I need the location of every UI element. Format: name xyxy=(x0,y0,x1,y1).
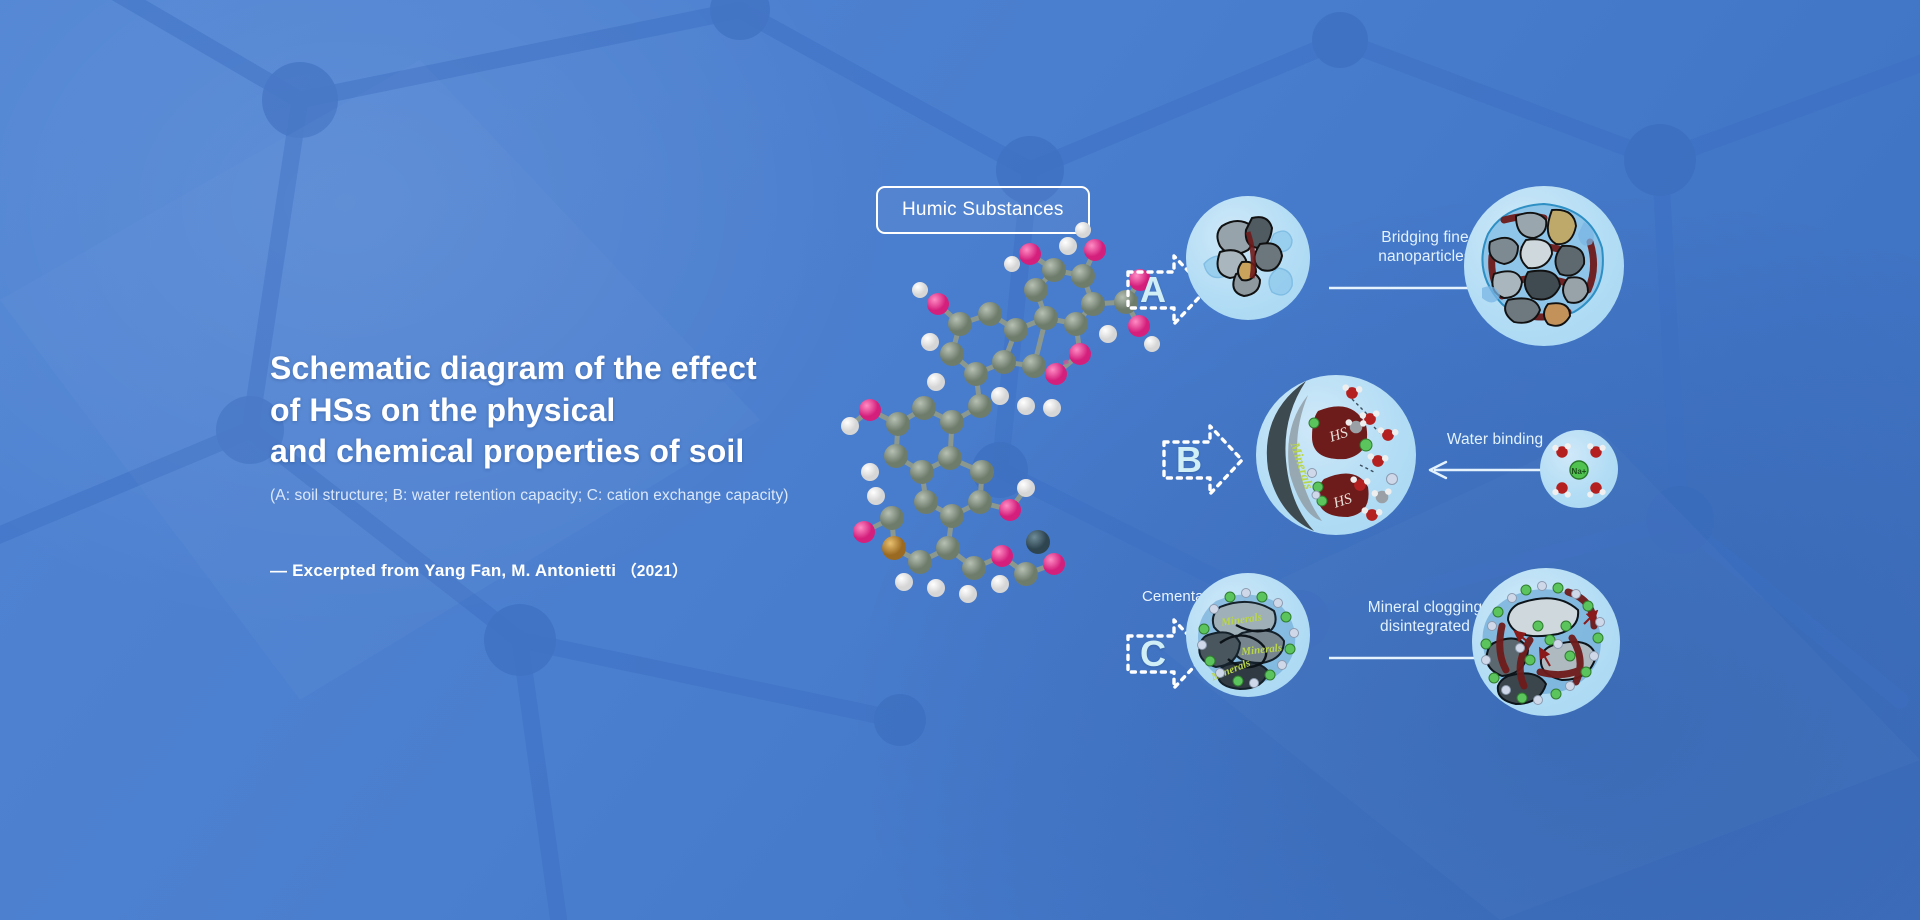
circle-humic-mineral-water-complex: HS HS Minerals xyxy=(1256,375,1416,535)
title-line-3: and chemical properties of soil xyxy=(270,431,910,473)
panel-arrow-b: B xyxy=(1158,418,1246,502)
attribution-text: — Excerpted from Yang Fan, M. Antonietti xyxy=(270,561,616,580)
page-title: Schematic diagram of the effect of HSs o… xyxy=(270,348,910,473)
attribution: — Excerpted from Yang Fan, M. Antonietti… xyxy=(270,559,910,581)
title-line-2: of HSs on the physical xyxy=(270,390,910,432)
headline-block: Schematic diagram of the effect of HSs o… xyxy=(270,348,910,581)
attribution-year: （2021） xyxy=(621,563,688,580)
circle-dispersed-soil-particles xyxy=(1186,196,1310,320)
humic-substance-molecule-model xyxy=(840,210,1170,630)
panel-letter-c: C xyxy=(1130,636,1176,672)
subtitle-legend: (A: soil structure; B: water retention c… xyxy=(270,487,910,505)
circle-bound-soil-aggregate xyxy=(1464,186,1624,346)
circle-disintegrated-mineral-clog xyxy=(1472,568,1620,716)
panel-letter-a: A xyxy=(1130,272,1176,308)
circle-cemented-mineral-clog: Minerals Minerals Minerals xyxy=(1186,573,1310,697)
circle-hydrated-cation: Na+ xyxy=(1540,430,1618,508)
title-line-1: Schematic diagram of the effect xyxy=(270,348,910,390)
panel-letter-b: B xyxy=(1166,442,1212,478)
diagram-canvas: Schematic diagram of the effect of HSs o… xyxy=(0,0,1920,920)
cation-label: Na+ xyxy=(1572,467,1587,476)
